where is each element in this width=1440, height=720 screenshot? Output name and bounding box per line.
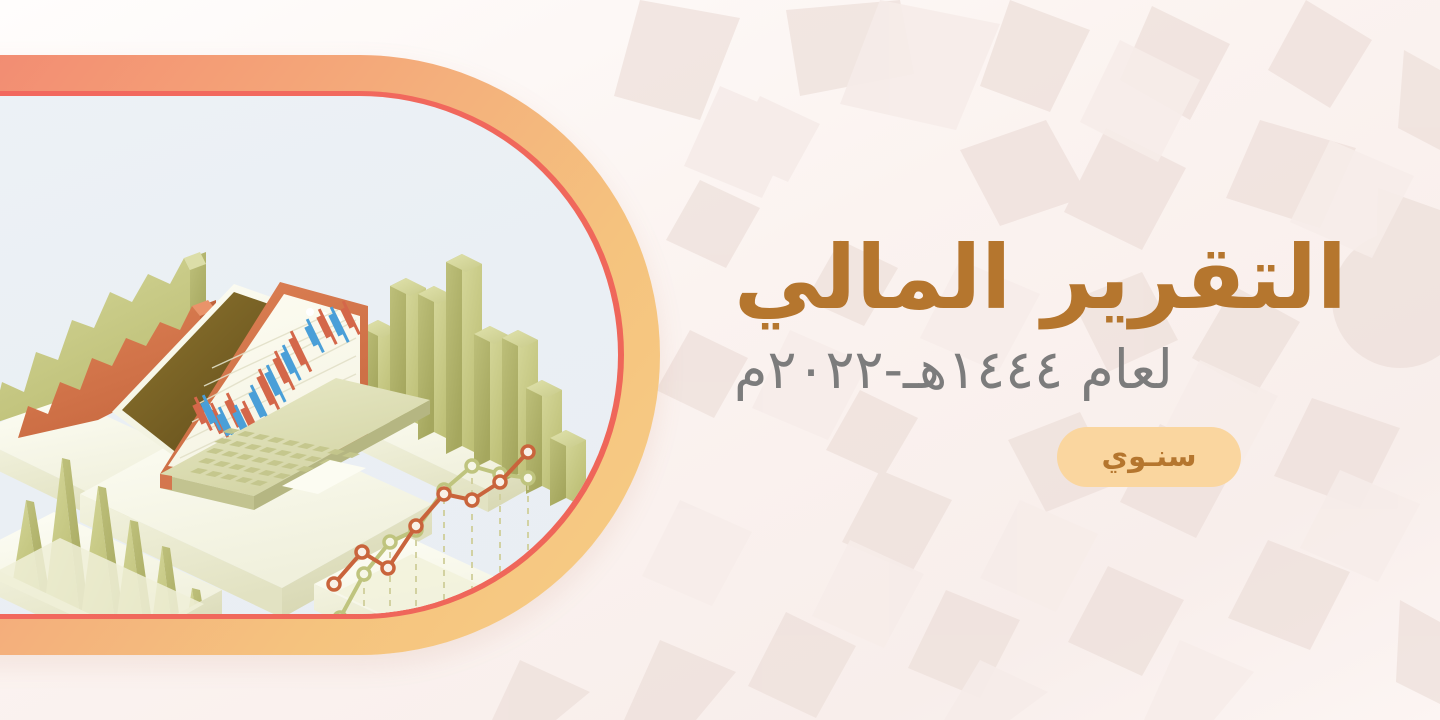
text-column: التقرير المالي لعام ١٤٤٤هـ-٢٠٢٢م سنـوي (734, 0, 1374, 720)
page-title: التقرير المالي (734, 233, 1347, 323)
isometric-financial-illustration (0, 106, 602, 614)
illustration-panel (0, 96, 618, 614)
status-badge[interactable]: سنـوي (1057, 427, 1240, 487)
bar-chart-group (350, 254, 586, 512)
badge-row: سنـوي (734, 427, 1374, 487)
page-subtitle: لعام ١٤٤٤هـ-٢٠٢٢م (734, 339, 1173, 401)
illustration-frame (0, 55, 660, 655)
poster-canvas: التقرير المالي لعام ١٤٤٤هـ-٢٠٢٢م سنـوي (0, 0, 1440, 720)
